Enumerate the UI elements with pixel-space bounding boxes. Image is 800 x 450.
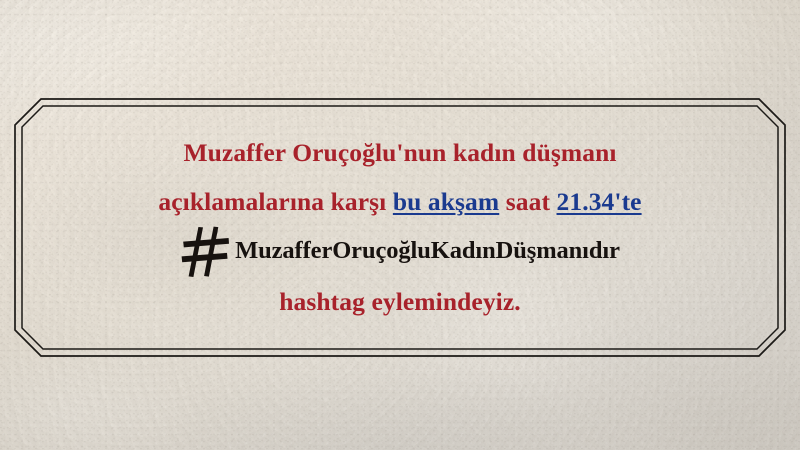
hashtag-label: MuzafferOruçoğluKadınDüşmanıdır	[235, 236, 620, 266]
headline-line-2: açıklamalarına karşı bu akşam saat 21.34…	[22, 187, 778, 217]
poster-canvas: Muzaffer Oruçoğlu'nun kadın düşmanı açık…	[0, 0, 800, 450]
headline-line-3-hashtag: MuzafferOruçoğluKadınDüşmanıdır	[22, 223, 778, 279]
hashtag-icon	[180, 225, 232, 279]
poster-text-block: Muzaffer Oruçoğlu'nun kadın düşmanı açık…	[22, 106, 778, 349]
line2-text-middle: saat	[499, 187, 556, 216]
link-bu-aksam[interactable]: bu akşam	[393, 187, 499, 216]
link-time-2134[interactable]: 21.34'te	[557, 187, 642, 216]
headline-line-4: hashtag eylemindeyiz.	[22, 287, 778, 317]
line2-text-before: açıklamalarına karşı	[158, 187, 392, 216]
headline-line-1: Muzaffer Oruçoğlu'nun kadın düşmanı	[22, 138, 778, 168]
